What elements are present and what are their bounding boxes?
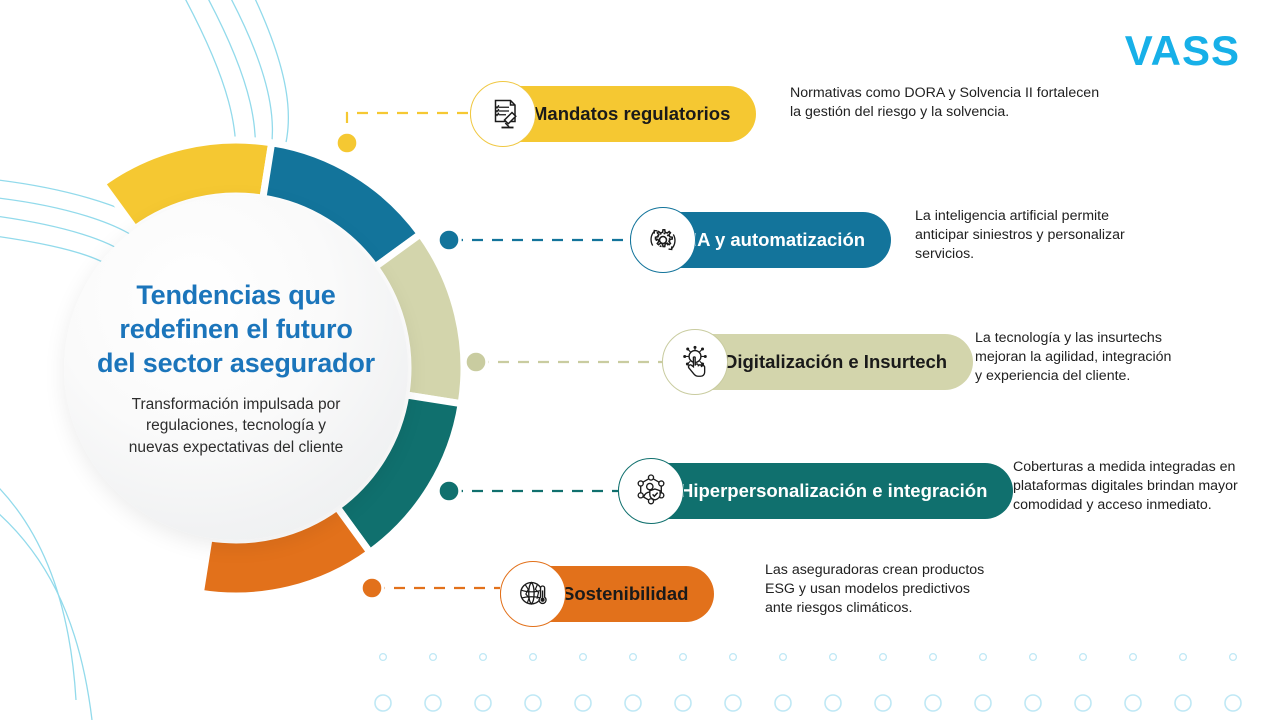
center-subtitle: Transformación impulsada por regulacione…	[129, 394, 344, 458]
center-hub: Tendencias que redefinen el futuro del s…	[64, 196, 408, 540]
item-description: Coberturas a medida integradas en plataf…	[1013, 458, 1280, 515]
item-label: Hiperpersonalización e integración	[680, 480, 987, 502]
gear-automation-icon	[630, 207, 696, 273]
person-shield-network-icon	[618, 458, 684, 524]
connector-line-1	[347, 113, 470, 143]
item-description: La inteligencia artificial permite antic…	[915, 207, 1215, 264]
globe-thermometer-icon	[500, 561, 566, 627]
item-label: Sostenibilidad	[562, 583, 688, 605]
connector-dot-2	[438, 229, 460, 251]
item-row-ia[interactable]: IA y automatización La inteligencia arti…	[630, 212, 891, 268]
vass-logo: VASS	[1125, 27, 1240, 75]
document-checklist-gavel-icon	[470, 81, 536, 147]
connector-dot-5	[361, 577, 383, 599]
item-description: Normativas como DORA y Solvencia II fort…	[790, 84, 1130, 122]
hand-touch-network-icon	[662, 329, 728, 395]
item-row-sostenibilidad[interactable]: Sostenibilidad Las aseguradoras crean pr…	[500, 566, 714, 622]
item-row-digitalizacion[interactable]: Digitalización e Insurtech La tecnología…	[662, 334, 973, 390]
item-row-hiperpersonalizacion[interactable]: Hiperpersonalización e integración Cober…	[618, 463, 1013, 519]
infographic-canvas: Tendencias que redefinen el futuro del s…	[0, 0, 1280, 720]
connector-dot-4	[438, 480, 460, 502]
item-label: Mandatos regulatorios	[532, 103, 730, 125]
item-label: Digitalización e Insurtech	[724, 351, 947, 373]
item-description: Las aseguradoras crean productos ESG y u…	[765, 561, 1055, 618]
connector-dot-3	[465, 351, 487, 373]
center-title: Tendencias que redefinen el futuro del s…	[97, 278, 375, 380]
item-description: La tecnología y las insurtechs mejoran l…	[975, 329, 1275, 386]
item-label: IA y automatización	[692, 229, 865, 251]
item-row-mandatos[interactable]: Mandatos regulatorios Normativas como DO…	[470, 86, 756, 142]
connector-dot-1	[336, 132, 358, 154]
